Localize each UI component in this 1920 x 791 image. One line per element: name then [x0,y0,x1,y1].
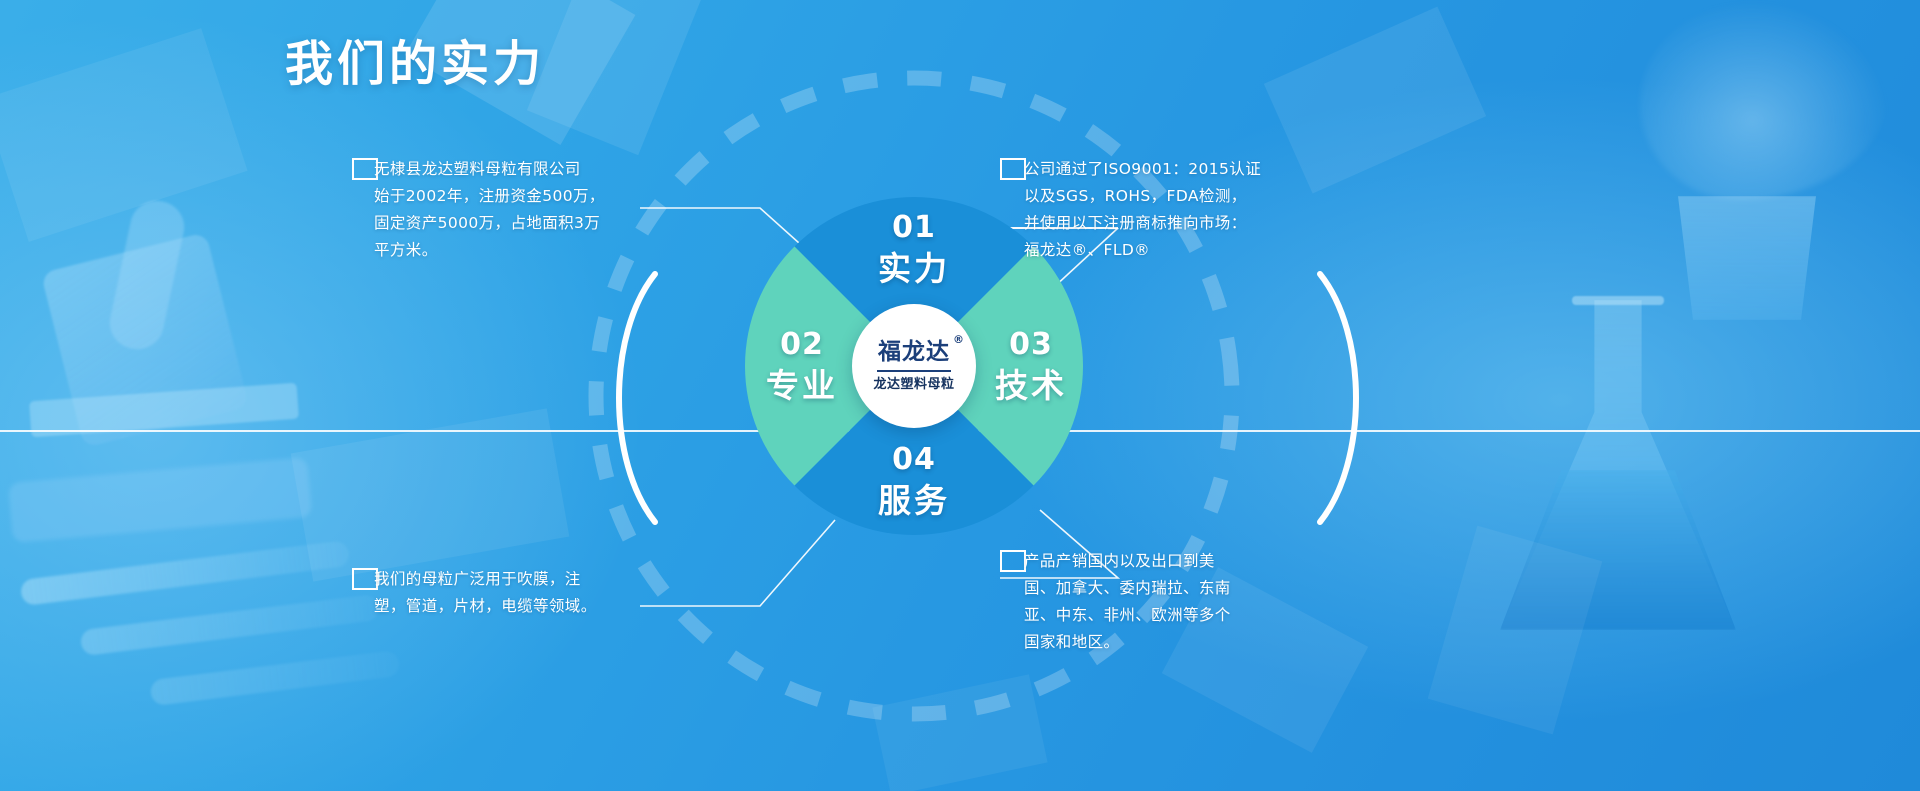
segment-04-name: 服务 [878,484,950,517]
decorative-panel [527,0,713,155]
logo-divider [877,370,951,372]
microscope-stage-image [29,383,299,438]
flask-liquid-image [1500,470,1736,630]
bracket-bottom-right-icon [1000,158,1026,180]
brand-name-text: 福龙达 [878,339,950,365]
segment-03-number: 03 [995,330,1067,360]
infographic-stage: 我们的实力 [0,0,1920,791]
segment-02-number: 02 [766,330,838,360]
callout-bottom-left[interactable]: 我们的母粒广泛用于吹膜，注 塑，管道，片材，电缆等领域。 [352,568,640,666]
brand-subtitle: 龙达塑料母粒 [873,378,954,391]
decorative-panel [291,408,570,581]
segment-01-label[interactable]: 01 实力 [878,213,950,285]
decorative-panel [1264,7,1486,194]
segment-03-name: 技术 [995,369,1067,402]
callout-bottom-right[interactable]: 产品产销国内以及出口到美 国、加拿大、委内瑞拉、东南 亚、中东、非州、欧洲等多个… [1000,550,1288,670]
microscope-arm-image [105,196,189,354]
segment-01-name: 实力 [878,252,950,285]
decorative-panel [1428,526,1603,735]
segment-02-name: 专业 [766,369,838,402]
callout-bottom-left-text: 我们的母粒广泛用于吹膜，注 塑，管道，片材，电缆等领域。 [374,566,638,620]
microscope-body-image [41,232,249,448]
test-tube-image [20,540,351,606]
callout-top-left[interactable]: 无棣县龙达塑料母粒有限公司 始于2002年，注册资金500万， 固定资产5000… [352,158,640,278]
right-parenthesis-decoration [1300,268,1390,528]
segment-04-label[interactable]: 04 服务 [878,445,950,517]
registered-trademark-icon: ® [953,334,965,345]
segment-02-label[interactable]: 02 专业 [766,330,838,402]
flask-rim-image [1572,296,1664,305]
test-tube-image [80,594,381,656]
callout-bottom-right-text: 产品产销国内以及出口到美 国、加拿大、委内瑞拉、东南 亚、中东、非州、欧洲等多个… [1024,548,1290,656]
bracket-bottom-right-icon [1000,550,1026,572]
segment-04-number: 04 [878,445,950,475]
callout-top-right-text: 公司通过了ISO9001：2015认证 以及SGS，ROHS，FDA检测， 并使… [1024,156,1290,264]
callout-top-left-text: 无棣县龙达塑料母粒有限公司 始于2002年，注册资金500万， 固定资产5000… [374,156,638,264]
hand-pouring-image [1640,0,1890,200]
flask-image [1500,300,1736,630]
microscope-base-image [8,457,312,543]
decorative-panel [872,674,1047,791]
segment-01-number: 01 [878,213,950,243]
brand-logo-hub[interactable]: 福龙达 ® 龙达塑料母粒 [852,304,976,428]
beaker-image [1672,196,1822,320]
callout-top-right[interactable]: 公司通过了ISO9001：2015认证 以及SGS，ROHS，FDA检测， 并使… [1000,158,1288,278]
decorative-panel [0,28,248,242]
page-title: 我们的实力 [285,38,545,91]
left-parenthesis-decoration [585,268,675,528]
brand-name: 福龙达 ® [878,341,950,364]
segment-03-label[interactable]: 03 技术 [995,330,1067,402]
